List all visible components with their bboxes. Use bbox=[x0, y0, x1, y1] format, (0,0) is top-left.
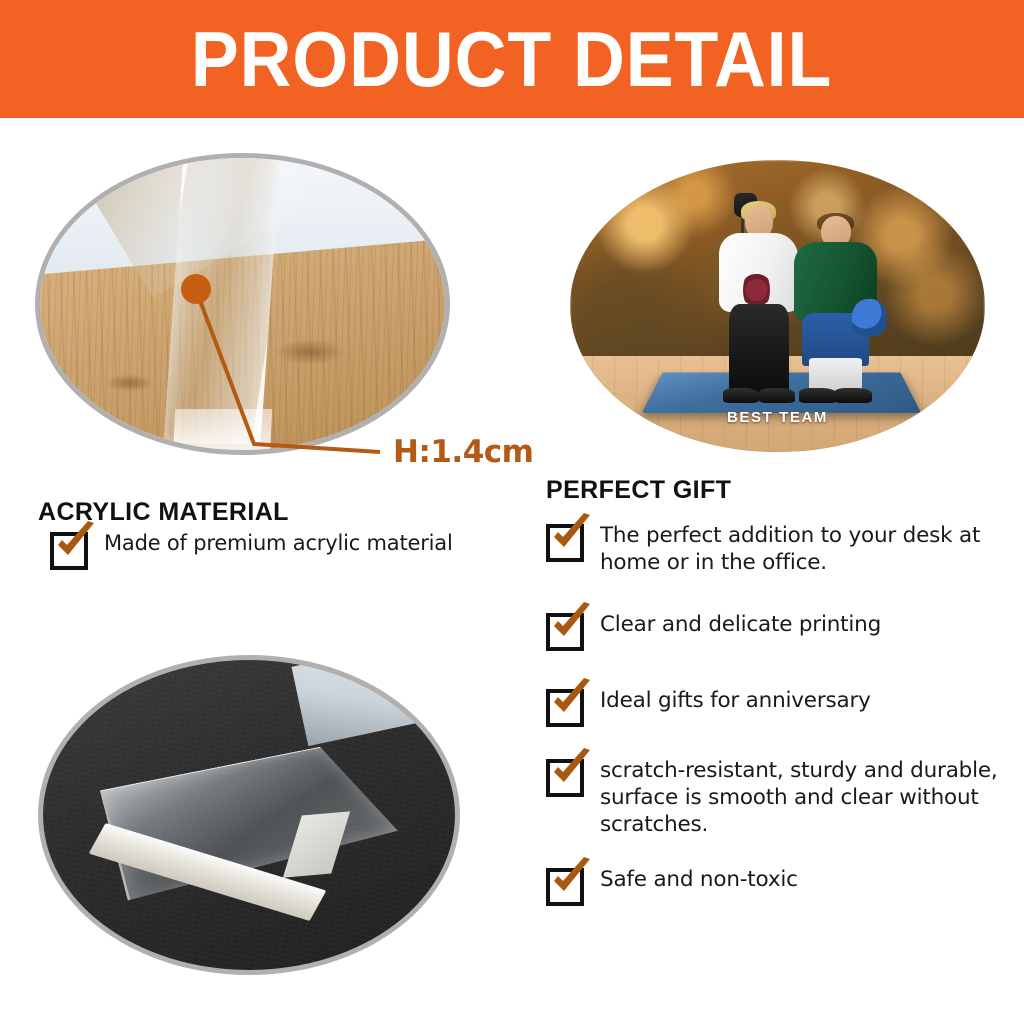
ice-skate-icon bbox=[723, 388, 759, 404]
page-header-banner: PRODUCT DETAIL bbox=[0, 0, 1024, 118]
dimension-callout-label: H:1.4cm bbox=[393, 434, 533, 470]
heading-perfect-gift: PERFECT GIFT bbox=[546, 476, 731, 505]
checkmark-icon bbox=[546, 759, 584, 797]
wood-grain-knot bbox=[275, 339, 345, 365]
list-item-label: Clear and delicate printing bbox=[600, 611, 881, 638]
list-item-label: Safe and non-toxic bbox=[600, 866, 798, 893]
black-hockey-pants bbox=[729, 304, 789, 395]
hockey-player-white-jersey bbox=[719, 201, 798, 400]
ice-skate-icon bbox=[799, 388, 837, 403]
photo-acrylic-edge-on-wood bbox=[35, 153, 450, 455]
list-item: Safe and non-toxic bbox=[546, 866, 998, 906]
photo-acrylic-block-on-slate bbox=[38, 655, 460, 975]
list-item-label: scratch-resistant, sturdy and durable, s… bbox=[600, 757, 998, 839]
page-title: PRODUCT DETAIL bbox=[191, 20, 832, 98]
acrylic-base-highlight bbox=[172, 409, 272, 455]
list-item: The perfect addition to your desk at hom… bbox=[546, 522, 998, 577]
checkmark-icon bbox=[50, 532, 88, 570]
list-item: Ideal gifts for anniversary bbox=[546, 687, 998, 727]
list-item-label: The perfect addition to your desk at hom… bbox=[600, 522, 998, 577]
wood-table-scene bbox=[40, 158, 445, 450]
checkmark-icon bbox=[546, 868, 584, 906]
ice-skate-icon bbox=[834, 388, 872, 403]
checkmark-icon bbox=[546, 613, 584, 651]
list-item-label: Made of premium acrylic material bbox=[104, 530, 453, 557]
feature-list-acrylic-material: Made of premium acrylic material bbox=[50, 530, 520, 586]
base-plaque-label: BEST TEAM bbox=[570, 409, 985, 426]
photo-product-hockey-plaque: BEST TEAM bbox=[570, 160, 985, 452]
list-item: scratch-resistant, sturdy and durable, s… bbox=[546, 757, 998, 839]
hockey-player-green-jersey bbox=[794, 213, 877, 400]
ice-skate-icon bbox=[759, 388, 795, 404]
list-item-label: Ideal gifts for anniversary bbox=[600, 687, 871, 714]
wood-grain-knot bbox=[105, 374, 155, 392]
slate-scene bbox=[43, 660, 455, 970]
white-socks bbox=[809, 358, 862, 392]
blue-helmet-icon bbox=[852, 299, 887, 336]
product-scene: BEST TEAM bbox=[570, 160, 985, 452]
list-item: Made of premium acrylic material bbox=[50, 530, 520, 570]
checkmark-icon bbox=[546, 689, 584, 727]
feature-list-perfect-gift: The perfect addition to your desk at hom… bbox=[546, 522, 998, 922]
list-item: Clear and delicate printing bbox=[546, 611, 998, 651]
checkmark-icon bbox=[546, 524, 584, 562]
